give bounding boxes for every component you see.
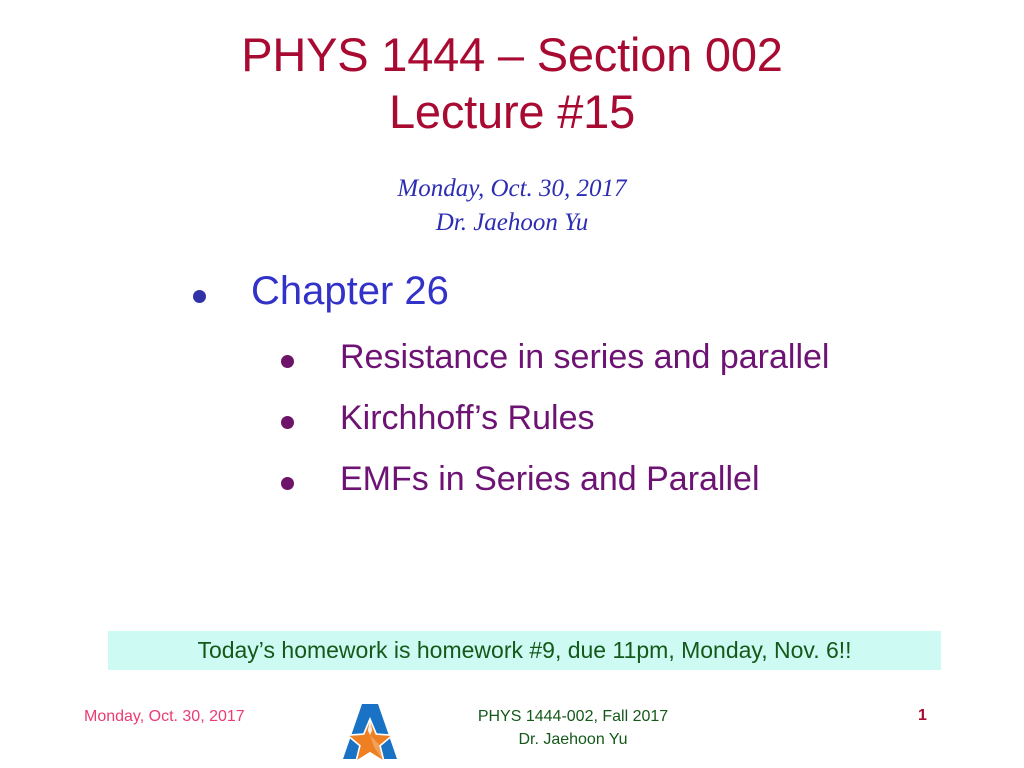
slide-title: PHYS 1444 – Section 002 Lecture #15 bbox=[0, 26, 1024, 141]
bullet-point-icon bbox=[193, 290, 206, 303]
footer-date: Monday, Oct. 30, 2017 bbox=[84, 708, 245, 726]
outline-item-level1: Chapter 26 bbox=[0, 268, 1024, 315]
slide-footer: Monday, Oct. 30, 2017 PHYS 1444-002, Fal… bbox=[0, 702, 1024, 768]
subtitle-date: Monday, Oct. 30, 2017 bbox=[0, 172, 1024, 206]
outline-level2-label: EMFs in Series and Parallel bbox=[340, 459, 760, 499]
outline-list: Chapter 26 Resistance in series and para… bbox=[0, 268, 1024, 521]
bullet-point-icon bbox=[281, 355, 294, 368]
homework-banner-text: Today’s homework is homework #9, due 11p… bbox=[197, 637, 851, 664]
footer-course-block: PHYS 1444-002, Fall 2017 Dr. Jaehoon Yu bbox=[413, 706, 733, 751]
bullet-point-icon bbox=[281, 416, 294, 429]
title-line-1: PHYS 1444 – Section 002 bbox=[0, 26, 1024, 83]
outline-item-level2: Resistance in series and parallel bbox=[0, 337, 1024, 377]
subtitle-presenter: Dr. Jaehoon Yu bbox=[0, 206, 1024, 240]
outline-level2-label: Kirchhoff’s Rules bbox=[340, 398, 595, 438]
uta-maverick-a-star-logo bbox=[337, 702, 403, 762]
outline-item-level2: EMFs in Series and Parallel bbox=[0, 459, 1024, 499]
footer-course: PHYS 1444-002, Fall 2017 bbox=[413, 706, 733, 729]
title-line-2: Lecture #15 bbox=[0, 83, 1024, 140]
slide-canvas: PHYS 1444 – Section 002 Lecture #15 Mond… bbox=[0, 0, 1024, 768]
homework-banner: Today’s homework is homework #9, due 11p… bbox=[108, 631, 941, 670]
footer-professor: Dr. Jaehoon Yu bbox=[413, 729, 733, 752]
outline-level1-label: Chapter 26 bbox=[251, 268, 449, 315]
outline-level2-label: Resistance in series and parallel bbox=[340, 337, 829, 377]
footer-page-number: 1 bbox=[918, 707, 927, 725]
outline-item-level2: Kirchhoff’s Rules bbox=[0, 398, 1024, 438]
slide-subtitle: Monday, Oct. 30, 2017 Dr. Jaehoon Yu bbox=[0, 172, 1024, 240]
bullet-point-icon bbox=[281, 477, 294, 490]
